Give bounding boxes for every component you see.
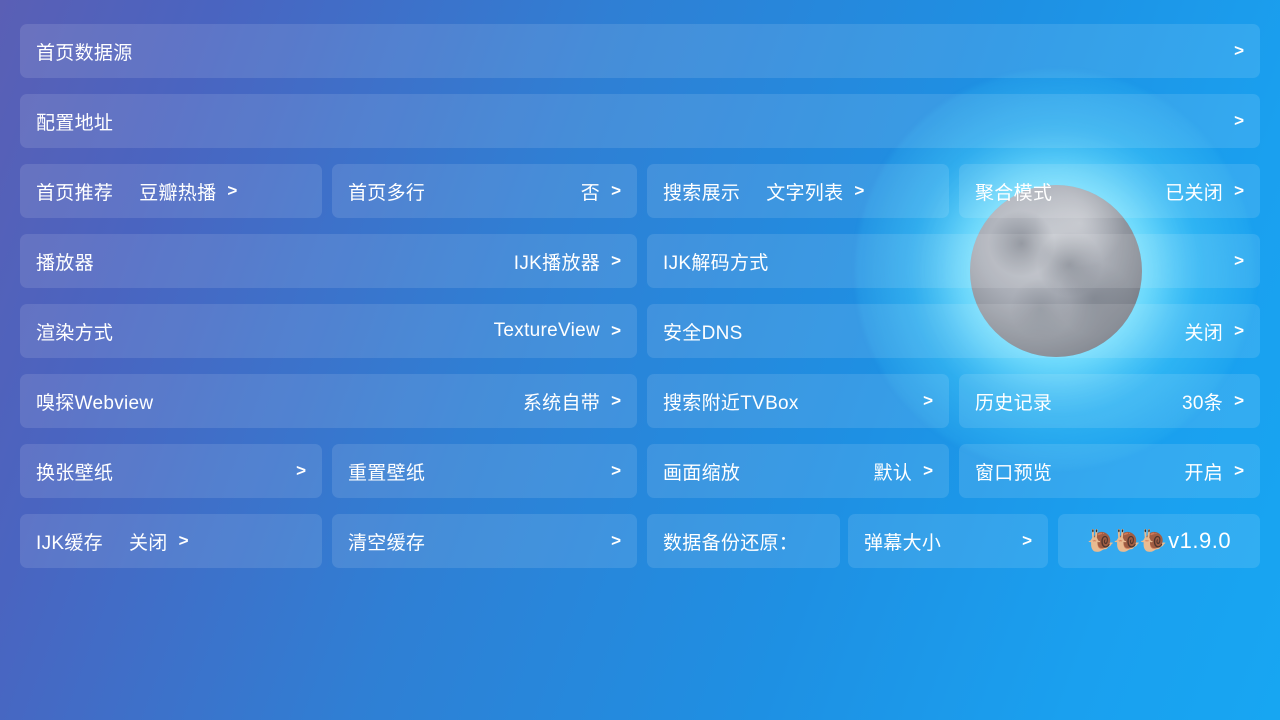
chevron-right-icon: > [1022,531,1032,551]
setting-value: 开启 [1184,458,1223,485]
setting-value: 关闭 [1184,318,1223,345]
setting-label: 嗅探Webview [36,388,153,415]
setting-clear-cache[interactable]: 清空缓存 > [332,514,637,568]
setting-value: IJK播放器 [514,248,600,275]
chevron-right-icon: > [611,461,621,481]
chevron-right-icon: > [611,251,621,271]
setting-label: 搜索展示 [663,178,740,205]
setting-home-multirow[interactable]: 首页多行 否 > [332,164,637,218]
setting-label: IJK缓存 [36,528,103,555]
chevron-right-icon: > [923,391,933,411]
setting-label: 窗口预览 [975,458,1052,485]
chevron-right-icon: > [611,531,621,551]
setting-label: 聚合模式 [975,178,1052,205]
app-version-badge[interactable]: 🐌🐌🐌 v1.9.0 [1058,514,1260,568]
setting-ijk-cache[interactable]: IJK缓存 关闭 > [20,514,322,568]
chevron-right-icon: > [1234,41,1244,61]
snail-icon: 🐌🐌🐌 [1087,530,1166,552]
setting-value: 豆瓣热播 [139,178,216,205]
setting-reset-wallpaper[interactable]: 重置壁纸 > [332,444,637,498]
setting-label: 渲染方式 [36,318,113,345]
setting-search-display[interactable]: 搜索展示 文字列表 > [647,164,949,218]
chevron-right-icon: > [1234,181,1244,201]
setting-screen-scale[interactable]: 画面缩放 默认 > [647,444,949,498]
setting-label: 安全DNS [663,318,743,345]
chevron-right-icon: > [296,461,306,481]
chevron-right-icon: > [611,181,621,201]
chevron-right-icon: > [227,181,237,201]
setting-render-mode[interactable]: 渲染方式 TextureView > [20,304,637,358]
setting-sniffer-webview[interactable]: 嗅探Webview 系统自带 > [20,374,637,428]
chevron-right-icon: > [1234,461,1244,481]
setting-label: 搜索附近TVBox [663,388,799,415]
chevron-right-icon: > [1234,111,1244,131]
setting-data-backup-restore[interactable]: 数据备份还原： [647,514,840,568]
setting-ijk-decode[interactable]: IJK解码方式 > [647,234,1260,288]
setting-label: 首页多行 [348,178,425,205]
setting-value: 关闭 [129,528,168,555]
setting-aggregate-mode[interactable]: 聚合模式 已关闭 > [959,164,1260,218]
chevron-right-icon: > [854,181,864,201]
setting-player[interactable]: 播放器 IJK播放器 > [20,234,637,288]
settings-row: 首页推荐 豆瓣热播 > 首页多行 否 > 搜索展示 文字列表 > 聚合模式 已关… [20,164,1260,218]
setting-search-nearby-tvbox[interactable]: 搜索附近TVBox > [647,374,949,428]
chevron-right-icon: > [179,531,189,551]
setting-value: 否 [581,178,600,205]
setting-history[interactable]: 历史记录 30条 > [959,374,1260,428]
settings-grid: 首页数据源 > 配置地址 > 首页推荐 豆瓣热播 > 首页多行 否 > 搜索展示… [20,24,1260,584]
setting-secure-dns[interactable]: 安全DNS 关闭 > [647,304,1260,358]
setting-label: 画面缩放 [663,458,740,485]
setting-config-address[interactable]: 配置地址 > [20,94,1260,148]
setting-value: 已关闭 [1165,178,1223,205]
chevron-right-icon: > [1234,321,1244,341]
setting-label: 数据备份还原： [663,528,798,555]
settings-row: 渲染方式 TextureView > 安全DNS 关闭 > [20,304,1260,358]
settings-row: 配置地址 > [20,94,1260,148]
chevron-right-icon: > [1234,391,1244,411]
setting-label: 弹幕大小 [864,528,941,555]
settings-row: IJK缓存 关闭 > 清空缓存 > 数据备份还原： 弹幕大小 > 🐌🐌🐌 v1.… [20,514,1260,568]
setting-home-recommend[interactable]: 首页推荐 豆瓣热播 > [20,164,322,218]
setting-value: TextureView [494,320,600,342]
setting-label: IJK解码方式 [663,248,769,275]
setting-label: 历史记录 [975,388,1052,415]
chevron-right-icon: > [1234,251,1244,271]
settings-row: 嗅探Webview 系统自带 > 搜索附近TVBox > 历史记录 30条 > [20,374,1260,428]
setting-danmaku-size[interactable]: 弹幕大小 > [848,514,1048,568]
setting-label: 重置壁纸 [348,458,425,485]
setting-label: 换张壁纸 [36,458,113,485]
setting-label: 首页推荐 [36,178,113,205]
chevron-right-icon: > [611,391,621,411]
chevron-right-icon: > [611,321,621,341]
setting-value: 30条 [1182,388,1223,415]
setting-change-wallpaper[interactable]: 换张壁纸 > [20,444,322,498]
setting-value: 系统自带 [523,388,600,415]
settings-row: 首页数据源 > [20,24,1260,78]
setting-label: 播放器 [36,248,94,275]
version-label: v1.9.0 [1168,528,1231,554]
setting-value: 文字列表 [766,178,843,205]
setting-label: 首页数据源 [36,38,133,65]
setting-home-datasource[interactable]: 首页数据源 > [20,24,1260,78]
settings-row: 换张壁纸 > 重置壁纸 > 画面缩放 默认 > 窗口预览 开启 > [20,444,1260,498]
settings-row: 播放器 IJK播放器 > IJK解码方式 > [20,234,1260,288]
setting-label: 清空缓存 [348,528,425,555]
setting-value: 默认 [873,458,912,485]
setting-label: 配置地址 [36,108,113,135]
setting-window-preview[interactable]: 窗口预览 开启 > [959,444,1260,498]
chevron-right-icon: > [923,461,933,481]
